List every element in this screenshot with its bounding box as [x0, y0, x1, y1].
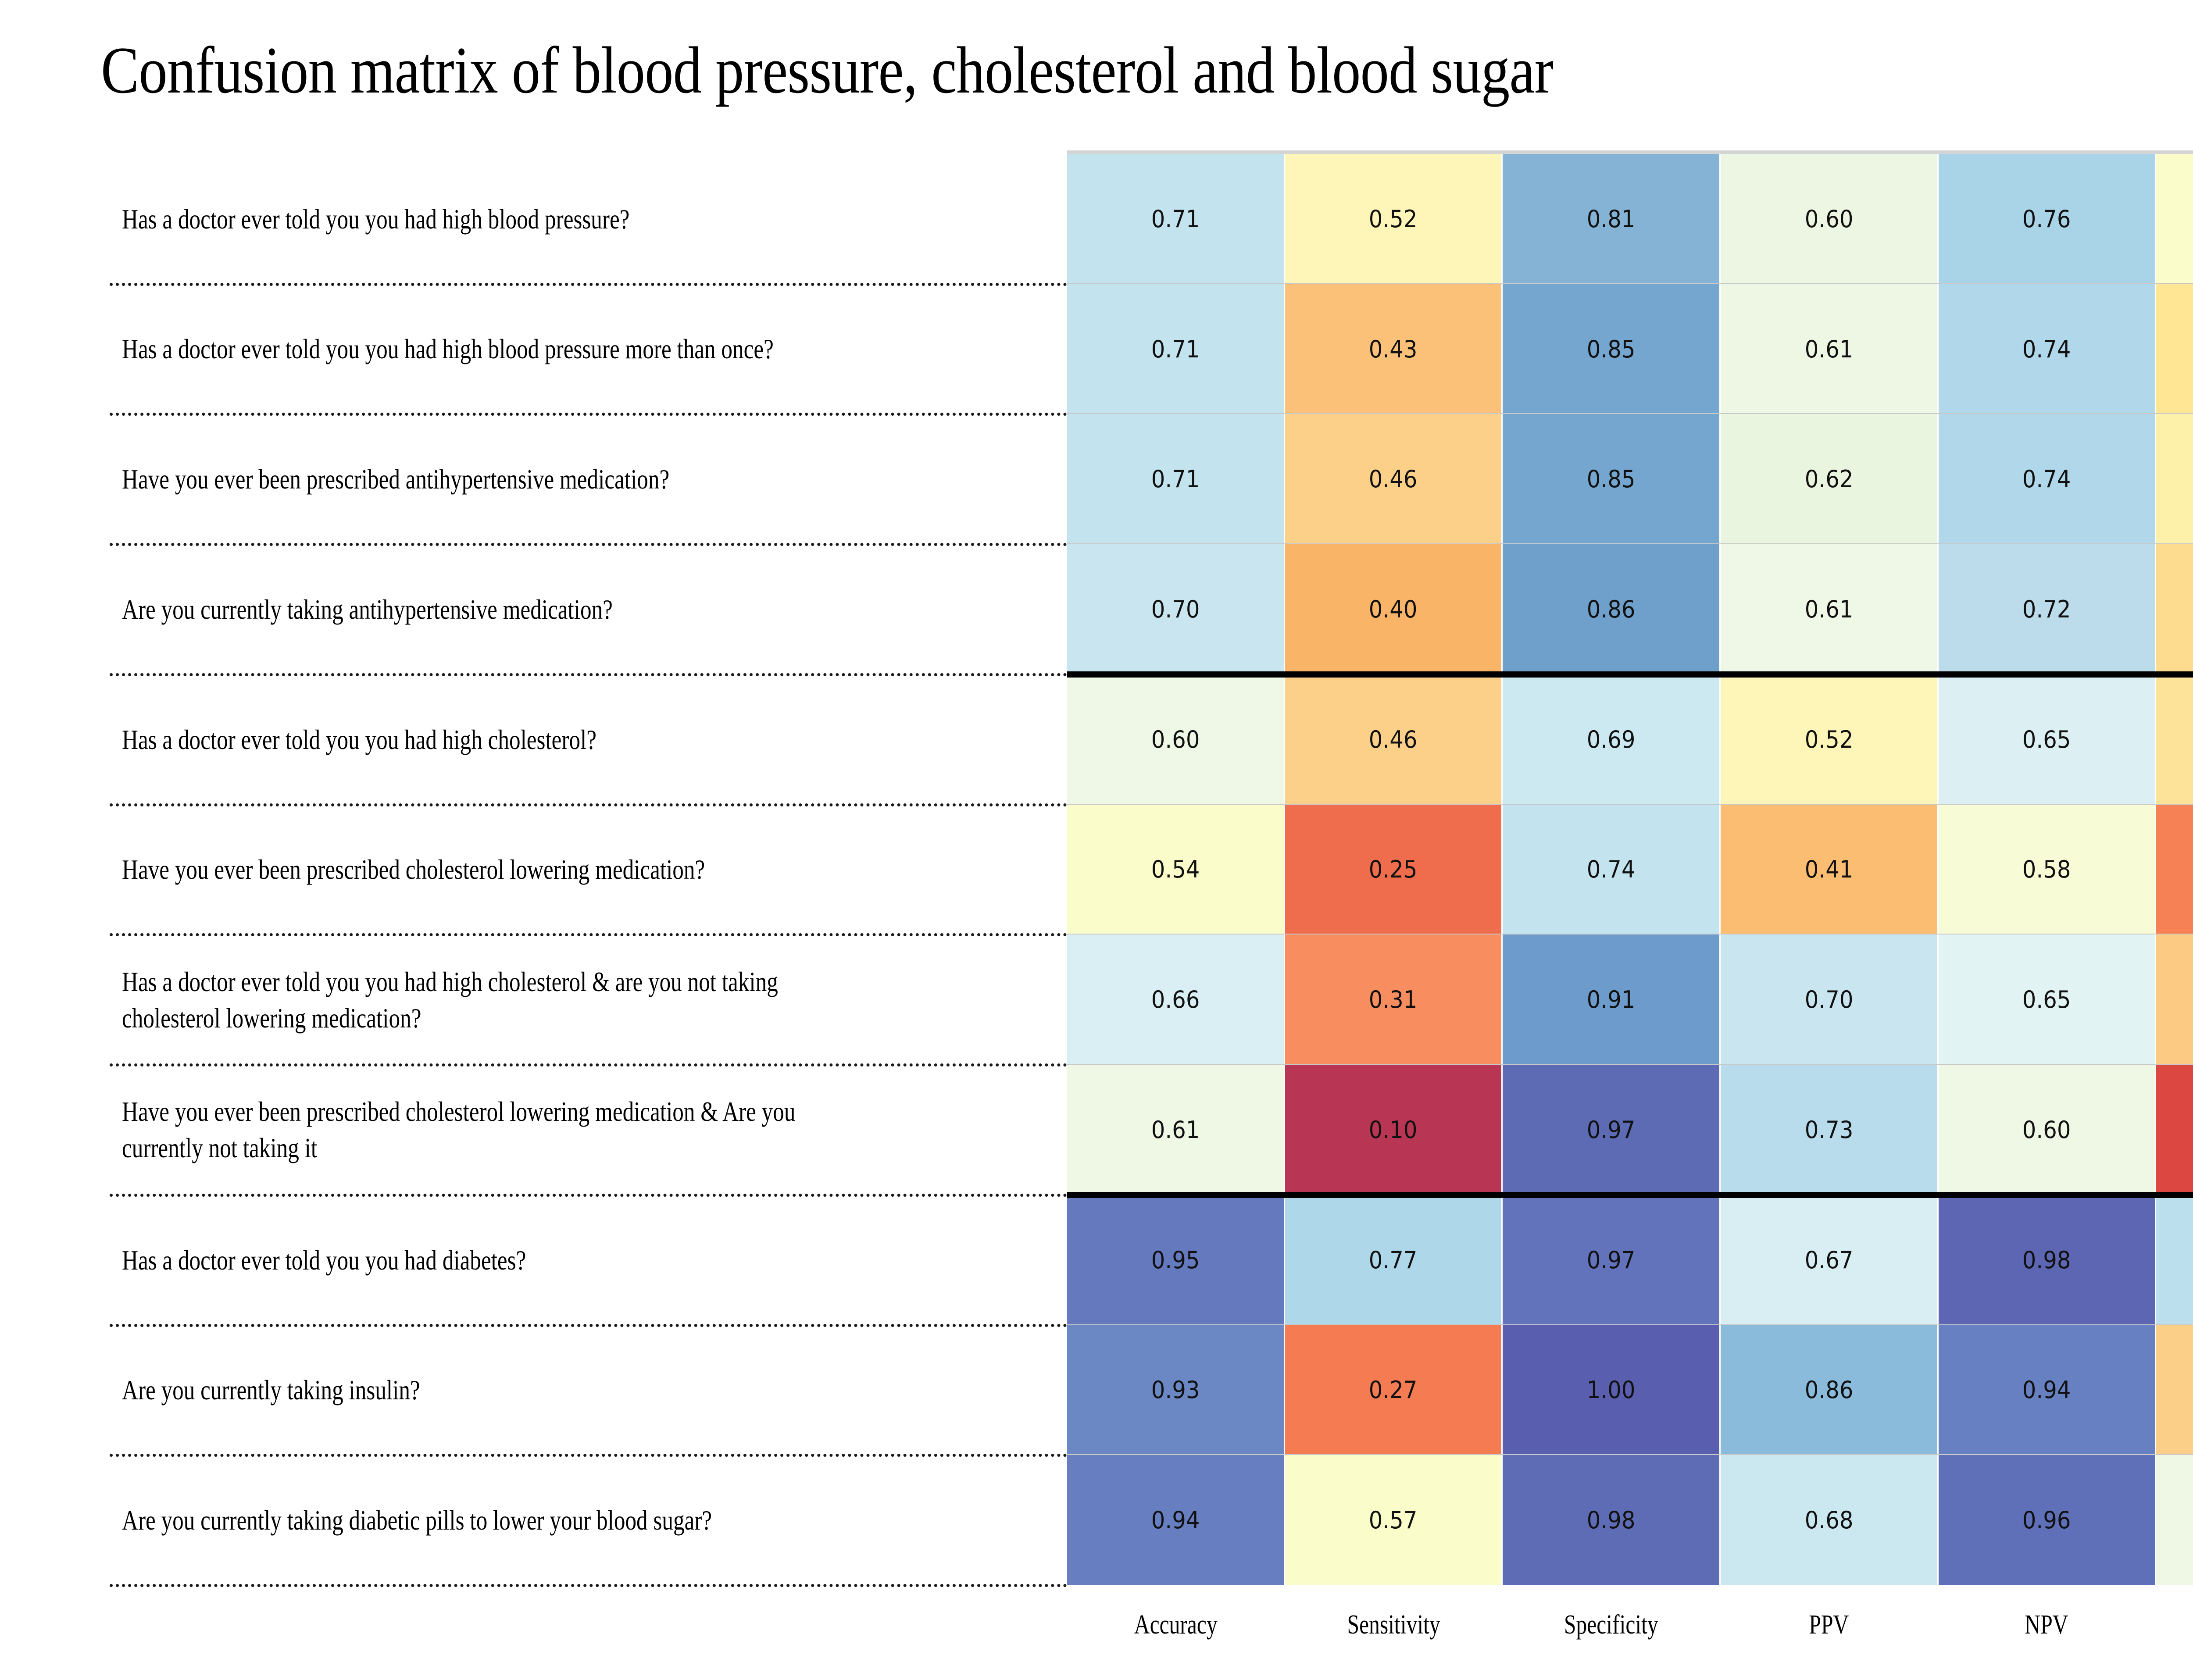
heatmap-cell-value: 0.86 — [1587, 596, 1636, 623]
heatmap-cell[interactable]: 1.00 — [1503, 1325, 1721, 1455]
heatmap-cell[interactable]: 0.27 — [1285, 1325, 1503, 1455]
heatmap-cell-value: 0.85 — [1587, 465, 1636, 493]
heatmap-cell[interactable]: 0.94 — [1067, 1455, 1285, 1585]
heatmap-cell-value: 0.52 — [1805, 726, 1854, 753]
heatmap-cell[interactable]: 0.91 — [1503, 935, 1721, 1065]
heatmap-cell[interactable]: 0.65 — [1939, 935, 2157, 1065]
heatmap-row: Are you currently taking diabetic pills … — [110, 1455, 2193, 1585]
row-label-text: Have you ever been prescribed antihypert… — [122, 461, 864, 497]
row-label: Have you ever been prescribed cholestero… — [110, 1065, 1053, 1195]
heatmap-cell-value: 0.40 — [1369, 596, 1418, 623]
row-label-text: Are you currently taking diabetic pills … — [122, 1502, 864, 1538]
heatmap-cell[interactable]: 0.70 — [1067, 544, 1285, 674]
heatmap-cell-value: 0.46 — [1369, 465, 1418, 493]
heatmap-cell-value: 0.74 — [2022, 335, 2071, 363]
heatmap-cell[interactable]: 0.43 — [1285, 284, 1503, 414]
heatmap-cell[interactable]: 0.74 — [1503, 805, 1721, 935]
heatmap-cell[interactable]: 0.52 — [1721, 674, 1939, 805]
heatmap-cell[interactable]: 0.61 — [1721, 544, 1939, 674]
heatmap-cell[interactable]: 0.85 — [1503, 414, 1721, 544]
heatmap-row: Has a doctor ever told you you had diabe… — [110, 1195, 2193, 1325]
heatmap-cell[interactable]: 0.57 — [1285, 1455, 1503, 1585]
heatmap-cell[interactable]: 0.74 — [1939, 284, 2157, 414]
heatmap-cell[interactable]: 0.73 — [1721, 1065, 1939, 1195]
heatmap-cell-value: 0.60 — [2022, 1116, 2071, 1144]
heatmap-cell[interactable]: 0.25 — [1285, 805, 1503, 935]
heatmap-cell[interactable]: 0.70 — [1721, 935, 1939, 1065]
row-label: Are you currently taking antihypertensiv… — [110, 544, 1053, 674]
heatmap-cell[interactable]: 0.72 — [1939, 544, 2157, 674]
heatmap-cell-value: 0.68 — [1805, 1506, 1854, 1534]
x-axis-label-text: PPV — [1809, 1596, 1849, 1653]
x-axis-label-text: Sensitivity — [1347, 1596, 1440, 1653]
heatmap-cell-value: 0.94 — [1151, 1506, 1200, 1534]
heatmap-cell[interactable]: 0.98 — [1503, 1455, 1721, 1585]
heatmap-cell[interactable]: 0.97 — [1503, 1065, 1721, 1195]
heatmap-cell-value: 0.71 — [1151, 205, 1200, 233]
heatmap-cell[interactable]: 0.74 — [1939, 414, 2157, 544]
heatmap-cell-value: 0.70 — [1151, 596, 1200, 623]
heatmap-cell[interactable]: 0.93 — [1067, 1325, 1285, 1455]
heatmap-row: Has a doctor ever told you you had high … — [110, 284, 2193, 414]
row-label: Has a doctor ever told you you had high … — [110, 674, 1053, 805]
heatmap-cell[interactable]: 0.49 — [2156, 674, 2193, 805]
heatmap-top-rule — [1067, 150, 2193, 154]
heatmap-cell[interactable]: 0.95 — [1067, 1195, 1285, 1325]
heatmap-cell-value: 0.61 — [1805, 596, 1854, 623]
heatmap-cell-value: 0.71 — [1151, 335, 1200, 363]
heatmap-cell-value: 0.61 — [1151, 1116, 1200, 1144]
heatmap-cell-value: 0.58 — [2022, 856, 2071, 883]
heatmap-cell[interactable]: 0.71 — [2156, 1195, 2193, 1325]
heatmap-row: Has a doctor ever told you you had high … — [110, 935, 2193, 1065]
heatmap-cell[interactable]: 0.69 — [1503, 674, 1721, 805]
heatmap-cell[interactable]: 0.61 — [1721, 284, 1939, 414]
heatmap-row-cells: 0.600.460.690.520.650.49 — [1067, 674, 2193, 805]
heatmap-cell-value: 0.91 — [1587, 986, 1636, 1013]
heatmap-row-cells: 0.710.520.810.600.760.56 — [1067, 154, 2193, 284]
x-axis-label: PPV — [1720, 1596, 1938, 1653]
heatmap-cell-value: 0.54 — [1151, 856, 1200, 883]
heatmap-cell-value: 0.85 — [1587, 335, 1636, 363]
heatmap-cell[interactable]: 0.62 — [2156, 1455, 2193, 1585]
row-label: Has a doctor ever told you you had diabe… — [110, 1195, 1053, 1325]
heatmap-plot: Has a doctor ever told you you had high … — [110, 154, 2193, 1585]
heatmap-cell[interactable]: 0.71 — [1067, 154, 1285, 284]
heatmap-cell-value: 0.74 — [2022, 465, 2071, 493]
heatmap-cell[interactable]: 0.41 — [1721, 805, 1939, 935]
heatmap-cell[interactable]: 0.60 — [1067, 674, 1285, 805]
heatmap-cell-value: 0.97 — [1587, 1116, 1636, 1144]
row-label: Has a doctor ever told you you had high … — [110, 154, 1053, 284]
heatmap-cell[interactable]: 0.54 — [1067, 805, 1285, 935]
heatmap-cell[interactable]: 0.68 — [1721, 1455, 1939, 1585]
heatmap-cell[interactable]: 0.56 — [2156, 154, 2193, 284]
heatmap-cell[interactable]: 0.60 — [1939, 1065, 2157, 1195]
heatmap-cell-value: 0.31 — [1369, 986, 1418, 1013]
heatmap-cell-value: 0.71 — [1151, 465, 1200, 493]
heatmap-cell-value: 0.10 — [1369, 1116, 1418, 1144]
row-label-text: Has a doctor ever told you you had high … — [122, 201, 864, 237]
heatmap-row-cells: 0.610.100.970.730.600.17 — [1067, 1065, 2193, 1195]
heatmap-cell-value: 0.98 — [2022, 1246, 2071, 1274]
heatmap-cell-value: 0.72 — [2022, 596, 2071, 623]
heatmap-cell[interactable]: 0.76 — [1939, 154, 2157, 284]
heatmap-cell-value: 0.27 — [1369, 1376, 1418, 1404]
heatmap-cell-value: 0.97 — [1587, 1246, 1636, 1274]
heatmap-row: Are you currently taking insulin?0.930.2… — [110, 1325, 2193, 1455]
heatmap-cell[interactable]: 0.52 — [1285, 154, 1503, 284]
heatmap-cell[interactable]: 0.62 — [1721, 414, 1939, 544]
x-axis-label: NPV — [1938, 1596, 2155, 1653]
heatmap-cell-value: 0.52 — [1369, 205, 1418, 233]
x-axis-label: Sensitivity — [1285, 1596, 1502, 1653]
heatmap-row: Have you ever been prescribed cholestero… — [110, 805, 2193, 935]
heatmap-cell-value: 0.86 — [1805, 1376, 1854, 1404]
heatmap-cell-value: 0.66 — [1151, 986, 1200, 1013]
heatmap-cell-value: 0.95 — [1151, 1246, 1200, 1274]
row-label-text: Has a doctor ever told you you had diabe… — [122, 1242, 864, 1278]
heatmap-row-cells: 0.710.460.850.620.740.53 — [1067, 414, 2193, 544]
heatmap-cell[interactable]: 0.66 — [1067, 935, 1285, 1065]
heatmap-cell-value: 0.96 — [2022, 1506, 2071, 1534]
row-label: Has a doctor ever told you you had high … — [110, 284, 1053, 414]
heatmap-cell[interactable]: 0.40 — [1285, 544, 1503, 674]
row-label: Are you currently taking diabetic pills … — [110, 1455, 1053, 1585]
heatmap-cell-value: 0.98 — [1587, 1506, 1636, 1534]
heatmap-row-cells: 0.540.250.740.410.580.31 — [1067, 805, 2193, 935]
heatmap-cell-value: 0.65 — [2022, 986, 2071, 1013]
heatmap-cell-value: 0.77 — [1369, 1246, 1418, 1274]
heatmap-cell-value: 0.43 — [1369, 335, 1418, 363]
group-separator-line — [1067, 1192, 2193, 1198]
row-label: Have you ever been prescribed antihypert… — [110, 414, 1053, 544]
heatmap-cell[interactable]: 0.46 — [1285, 414, 1503, 544]
heatmap-cell-value: 0.81 — [1587, 205, 1636, 233]
heatmap-cell[interactable]: 0.31 — [2156, 805, 2193, 935]
heatmap-cell-value: 0.25 — [1369, 856, 1418, 883]
x-axis-labels: AccuracySensitivitySpecificityPPVNPVF1 s… — [1067, 1596, 2193, 1653]
page-title: Confusion matrix of blood pressure, chol… — [101, 26, 2193, 114]
heatmap-cell[interactable]: 0.48 — [2156, 544, 2193, 674]
x-axis-label: Accuracy — [1067, 1596, 1285, 1653]
heatmap-cell[interactable]: 0.60 — [1721, 154, 1939, 284]
heatmap-cell[interactable]: 0.77 — [1285, 1195, 1503, 1325]
heatmap-cell-value: 1.00 — [1587, 1376, 1636, 1404]
heatmap-row: Has a doctor ever told you you had high … — [110, 674, 2193, 805]
heatmap-cell-value: 0.69 — [1587, 726, 1636, 753]
heatmap-row-cells: 0.950.770.970.670.980.71 — [1067, 1195, 2193, 1325]
heatmap-cell[interactable]: 0.43 — [2156, 935, 2193, 1065]
heatmap-cell-value: 0.41 — [1805, 856, 1854, 883]
heatmap-cell[interactable]: 0.53 — [2156, 414, 2193, 544]
heatmap-cell[interactable]: 0.96 — [1939, 1455, 2157, 1585]
heatmap-cell[interactable]: 0.71 — [1067, 284, 1285, 414]
row-label-text: Are you currently taking insulin? — [122, 1372, 864, 1408]
x-axis-label-text: Specificity — [1564, 1596, 1658, 1653]
heatmap-cell-value: 0.93 — [1151, 1376, 1200, 1404]
row-label-text: Has a doctor ever told you you had high … — [122, 721, 864, 758]
heatmap-row-cells: 0.940.570.980.680.960.62 — [1067, 1455, 2193, 1585]
heatmap-cell[interactable]: 0.51 — [2156, 284, 2193, 414]
heatmap-cell-value: 0.46 — [1369, 726, 1418, 753]
heatmap-cell[interactable]: 0.61 — [1067, 1065, 1285, 1195]
group-separator-line — [1067, 671, 2193, 678]
heatmap-cell[interactable]: 0.81 — [1503, 154, 1721, 284]
heatmap-cell[interactable]: 0.94 — [1939, 1325, 2157, 1455]
row-label: Have you ever been prescribed cholestero… — [110, 805, 1053, 935]
heatmap-row: Has a doctor ever told you you had high … — [110, 154, 2193, 284]
heatmap-row-cells: 0.700.400.860.610.720.48 — [1067, 544, 2193, 674]
row-label-text: Have you ever been prescribed cholestero… — [122, 1093, 864, 1166]
heatmap-cell[interactable]: 0.41 — [2156, 1325, 2193, 1455]
heatmap-cell-value: 0.65 — [2022, 726, 2071, 753]
heatmap-figure: Confusion matrix of blood pressure, chol… — [0, 0, 2193, 1680]
heatmap-cell-value: 0.74 — [1587, 856, 1636, 883]
heatmap-cell-value: 0.76 — [2022, 205, 2071, 233]
row-divider-dotted — [110, 1584, 1067, 1587]
heatmap-cell-value: 0.57 — [1369, 1506, 1418, 1534]
heatmap-cell[interactable]: 0.31 — [1285, 935, 1503, 1065]
row-label-text: Has a doctor ever told you you had high … — [122, 963, 864, 1036]
heatmap-cell[interactable]: 0.10 — [1285, 1065, 1503, 1195]
heatmap-cell[interactable]: 0.85 — [1503, 284, 1721, 414]
heatmap-cell[interactable]: 0.65 — [1939, 674, 2157, 805]
heatmap-cell[interactable]: 0.46 — [1285, 674, 1503, 805]
heatmap-cell[interactable]: 0.58 — [1939, 805, 2157, 935]
x-axis-label-text: Accuracy — [1134, 1596, 1218, 1653]
heatmap-cell[interactable]: 0.67 — [1721, 1195, 1939, 1325]
heatmap-row-cells: 0.930.271.000.860.940.41 — [1067, 1325, 2193, 1455]
row-label-text: Has a doctor ever told you you had high … — [122, 331, 864, 367]
heatmap-row: Have you ever been prescribed antihypert… — [110, 414, 2193, 544]
heatmap-cell-value: 0.62 — [1805, 465, 1854, 493]
heatmap-row: Have you ever been prescribed cholestero… — [110, 1065, 2193, 1195]
heatmap-cell[interactable]: 0.71 — [1067, 414, 1285, 544]
heatmap-row: Are you currently taking antihypertensiv… — [110, 544, 2193, 674]
heatmap-cell-value: 0.61 — [1805, 335, 1854, 363]
heatmap-cell[interactable]: 0.98 — [1939, 1195, 2157, 1325]
heatmap-cell-value: 0.94 — [2022, 1376, 2071, 1404]
heatmap-cell-value: 0.60 — [1805, 205, 1854, 233]
heatmap-row-cells: 0.710.430.850.610.740.51 — [1067, 284, 2193, 414]
heatmap-cell-value: 0.60 — [1151, 726, 1200, 753]
x-axis-label-text: NPV — [2025, 1596, 2068, 1653]
row-label-text: Are you currently taking antihypertensiv… — [122, 591, 864, 628]
heatmap-cell-value: 0.67 — [1805, 1246, 1854, 1274]
heatmap-cell-value: 0.70 — [1805, 986, 1854, 1013]
heatmap-cell[interactable]: 0.97 — [1503, 1195, 1721, 1325]
x-axis-label: Specificity — [1502, 1596, 1720, 1653]
heatmap-cell[interactable]: 0.17 — [2156, 1065, 2193, 1195]
heatmap-cell-value: 0.73 — [1805, 1116, 1854, 1144]
row-label: Are you currently taking insulin? — [110, 1325, 1053, 1455]
heatmap-cell[interactable]: 0.86 — [1503, 544, 1721, 674]
x-axis-label: F1 score — [2155, 1596, 2193, 1653]
heatmap-cell[interactable]: 0.86 — [1721, 1325, 1939, 1455]
row-label: Has a doctor ever told you you had high … — [110, 935, 1053, 1065]
row-label-text: Have you ever been prescribed cholestero… — [122, 851, 864, 888]
heatmap-row-cells: 0.660.310.910.700.650.43 — [1067, 935, 2193, 1065]
